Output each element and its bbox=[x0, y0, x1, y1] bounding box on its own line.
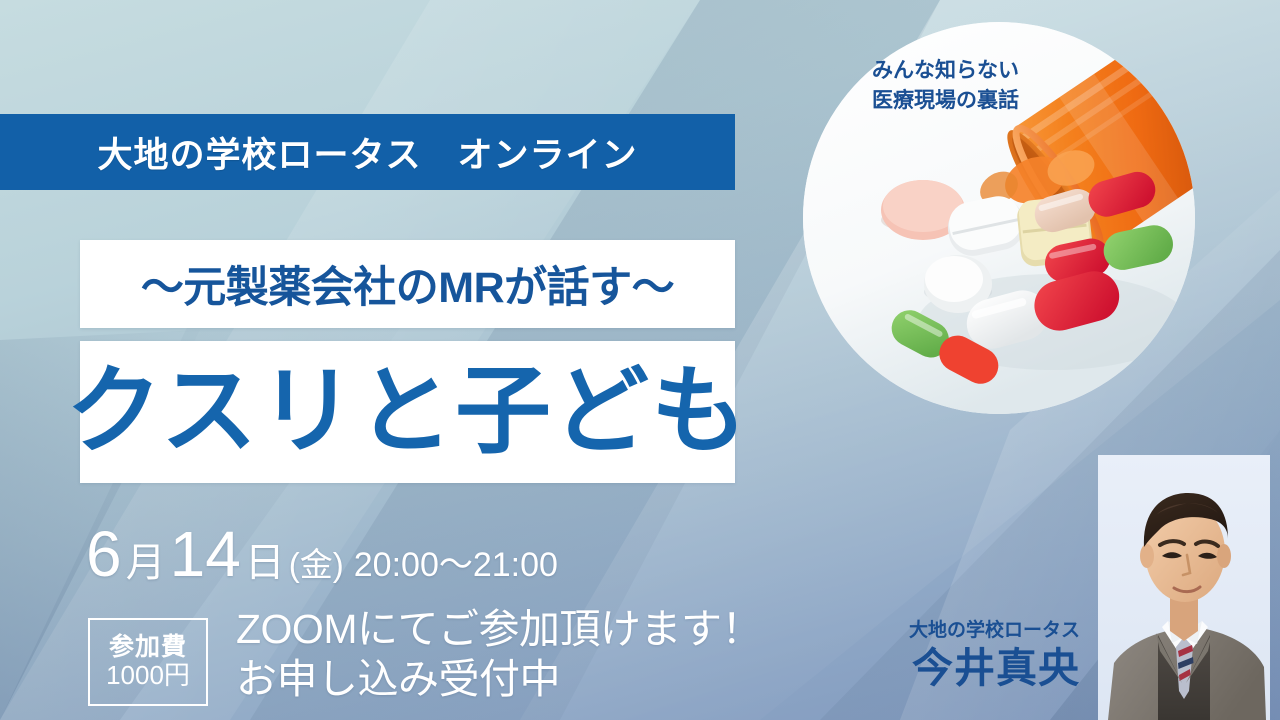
participation-info: ZOOMにてご参加頂けます！ お申し込み受付中 bbox=[236, 604, 762, 705]
speaker-organization: 大地の学校ロータス bbox=[866, 620, 1080, 643]
speaker-name: 今井真央 bbox=[866, 645, 1080, 692]
info-line-zoom: ZOOMにてご参加頂けます！ bbox=[236, 604, 762, 654]
main-title: クスリと子ども bbox=[66, 364, 749, 460]
info-line-application: お申し込み受付中 bbox=[236, 654, 762, 704]
date-month-unit: 月 bbox=[122, 543, 170, 583]
date-weekday: (金) bbox=[289, 548, 344, 581]
speaker-credit: 大地の学校ロータス 今井真央 bbox=[866, 620, 1080, 692]
title-plate: クスリと子ども bbox=[80, 341, 735, 483]
event-banner: 大地の学校ロータス オンライン bbox=[0, 114, 735, 190]
date-time-range: 20:00～21:00 bbox=[344, 548, 558, 582]
date-month-number: 6 bbox=[86, 522, 122, 586]
pill-photo-caption: みんな知らない 医療現場の裏話 bbox=[872, 56, 1019, 116]
caption-line-2: 医療現場の裏話 bbox=[872, 86, 1019, 116]
subtitle-plate: ～元製薬会社のMRが話す～ bbox=[80, 240, 735, 328]
date-day-number: 14 bbox=[170, 522, 241, 586]
banner-title: 大地の学校ロータス オンライン bbox=[97, 127, 637, 178]
subtitle-text: ～元製薬会社のMRが話す～ bbox=[141, 253, 674, 315]
speaker-portrait bbox=[1098, 455, 1270, 720]
fee-box: 参加費 1000円 bbox=[88, 618, 208, 706]
event-date: 6 月 14 日 (金) 20:00～21:00 bbox=[86, 522, 558, 586]
speaker-portrait-illustration bbox=[1098, 455, 1270, 720]
fee-amount: 1000円 bbox=[106, 661, 190, 691]
date-day-unit: 日 bbox=[241, 543, 289, 583]
fee-label: 参加費 bbox=[109, 633, 187, 662]
seminar-flyer: 大地の学校ロータス オンライン ～元製薬会社のMRが話す～ クスリと子ども 6 … bbox=[0, 0, 1280, 720]
caption-line-1: みんな知らない bbox=[872, 56, 1019, 86]
